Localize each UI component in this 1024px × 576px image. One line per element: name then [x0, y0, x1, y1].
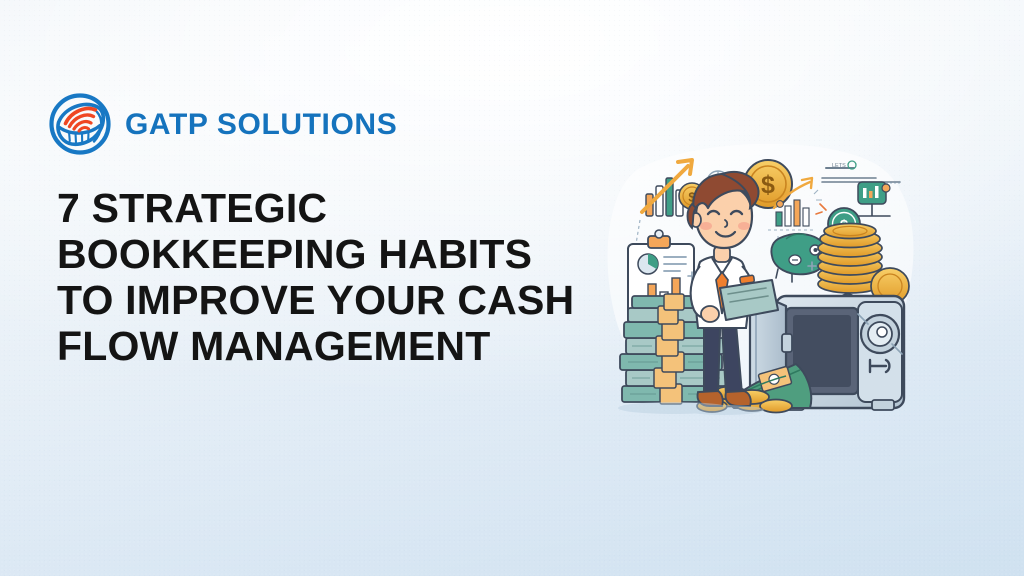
svg-text:$: $: [761, 171, 775, 199]
brand-logo-text: GATP SOLUTIONS: [125, 108, 397, 140]
businessman-with-cash-savings-and-safe-illustration: $ $ LETS: [600, 138, 925, 420]
gatp-globe-logo-icon: [48, 92, 112, 156]
hero-illustration: $ $ LETS: [600, 138, 925, 420]
brand-logo[interactable]: GATP SOLUTIONS: [48, 92, 397, 156]
svg-text:LETS: LETS: [832, 163, 846, 169]
slide-canvas: GATP SOLUTIONS 7 Strategic Bookkeeping H…: [0, 0, 1024, 576]
page-title: 7 Strategic Bookkeeping Habits to Improv…: [57, 186, 597, 370]
